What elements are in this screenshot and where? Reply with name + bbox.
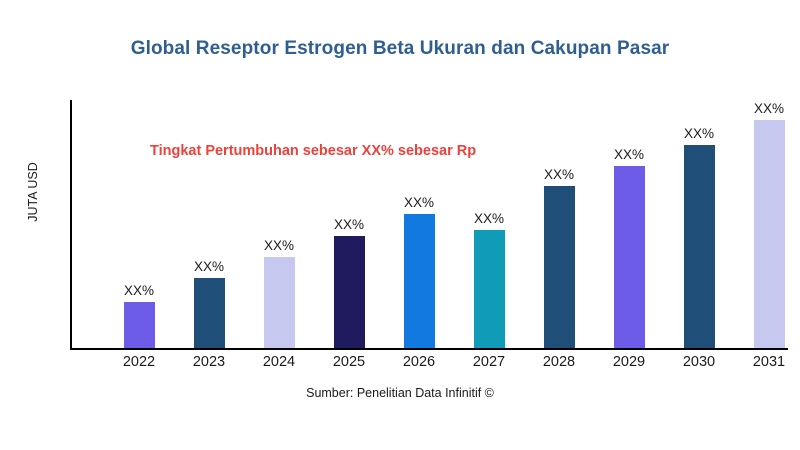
y-axis-label: JUTA USD (26, 132, 40, 252)
bar-value-label: XX% (104, 283, 174, 298)
bar-group: XX% (734, 80, 800, 348)
bar-group: XX% (314, 80, 384, 348)
bar-group: XX% (244, 80, 314, 348)
bar-group: XX% (104, 80, 174, 348)
x-axis-line (70, 348, 788, 350)
bar-group: XX% (384, 80, 454, 348)
bar-group: XX% (664, 80, 734, 348)
bar-value-label: XX% (524, 167, 594, 182)
bar-group: XX% (454, 80, 524, 348)
x-tick-2030: 2030 (664, 354, 734, 370)
bar-value-label: XX% (244, 238, 314, 253)
bar-value-label: XX% (664, 126, 734, 141)
bar-value-label: XX% (174, 259, 244, 274)
bar (264, 257, 295, 348)
bar-group: XX% (524, 80, 594, 348)
bar-value-label: XX% (734, 101, 800, 116)
bar (614, 166, 645, 348)
bar-group: XX% (594, 80, 664, 348)
plot-area: XX%XX%XX%XX%XX%XX%XX%XX%XX%XX% (70, 80, 788, 348)
bar (684, 145, 715, 348)
bar-value-label: XX% (594, 147, 664, 162)
bar (544, 186, 575, 348)
bar (124, 302, 155, 348)
x-tick-2027: 2027 (454, 354, 524, 370)
x-tick-2028: 2028 (524, 354, 594, 370)
x-tick-2026: 2026 (384, 354, 454, 370)
x-tick-2024: 2024 (244, 354, 314, 370)
chart-figure: Global Reseptor Estrogen Beta Ukuran dan… (0, 0, 800, 450)
x-tick-2022: 2022 (104, 354, 174, 370)
x-tick-2031: 2031 (734, 354, 800, 370)
bar (404, 214, 435, 348)
x-tick-2029: 2029 (594, 354, 664, 370)
bar (334, 236, 365, 348)
bar-group: XX% (174, 80, 244, 348)
bar (474, 230, 505, 348)
bar-value-label: XX% (454, 211, 524, 226)
bar (754, 120, 785, 348)
bar-value-label: XX% (384, 195, 454, 210)
x-tick-2025: 2025 (314, 354, 384, 370)
x-tick-2023: 2023 (174, 354, 244, 370)
bar (194, 278, 225, 348)
bar-value-label: XX% (314, 217, 384, 232)
source-note: Sumber: Penelitian Data Infinitif © (0, 386, 800, 400)
chart-title: Global Reseptor Estrogen Beta Ukuran dan… (0, 38, 800, 60)
